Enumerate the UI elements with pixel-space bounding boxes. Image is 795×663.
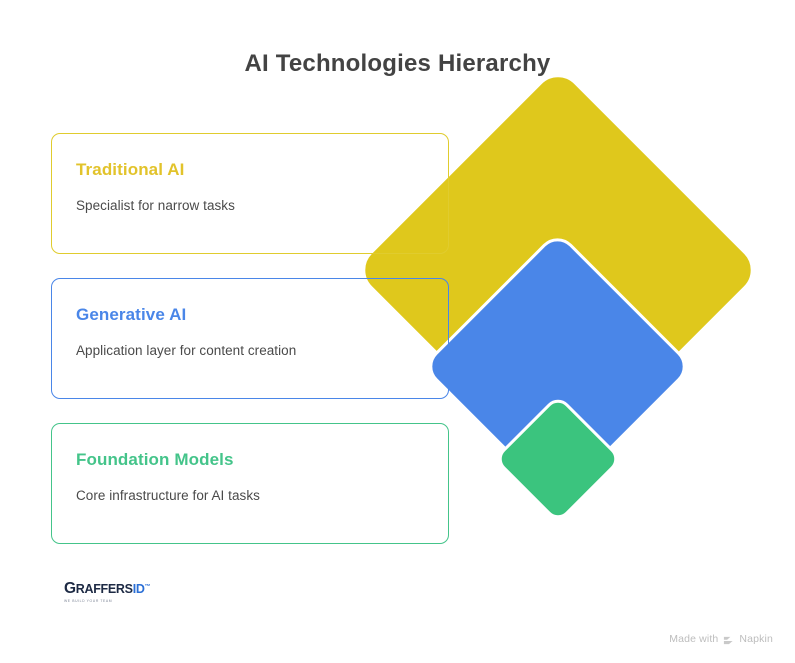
card-description-foundation-models: Core infrastructure for AI tasks [76,488,448,503]
brand-logo-rest: RAFFERS [76,583,133,596]
brand-logo-wordmark: GRAFFERSID™ [64,581,142,597]
card-generative-ai[interactable]: Generative AI Application layer for cont… [51,278,449,399]
diagram-canvas: AI Technologies Hierarchy Traditional AI… [0,0,795,663]
card-heading-traditional-ai: Traditional AI [76,160,448,180]
brand-logo-g: G [64,581,76,597]
card-description-traditional-ai: Specialist for narrow tasks [76,198,448,213]
middle-diamond-shape [421,230,694,503]
card-heading-foundation-models: Foundation Models [76,450,448,470]
brand-logo: GRAFFERSID™ WE BUILD YOUR TEAM [64,579,142,605]
outer-diamond-shape [352,64,765,477]
card-traditional-ai[interactable]: Traditional AI Specialist for narrow tas… [51,133,449,254]
page-title: AI Technologies Hierarchy [0,50,795,78]
footer-made-with-label: Made with [669,633,718,645]
inner-diamond-shape [493,394,623,524]
brand-logo-tagline: WE BUILD YOUR TEAM [64,599,142,603]
card-description-generative-ai: Application layer for content creation [76,343,448,358]
napkin-logo-icon [723,635,734,646]
brand-logo-trademark-icon: ™ [145,584,151,590]
footer-product-name: Napkin [739,633,773,645]
card-foundation-models[interactable]: Foundation Models Core infrastructure fo… [51,423,449,544]
footer-attribution[interactable]: Made with Napkin [669,633,773,645]
brand-logo-id: ID [133,583,145,596]
card-heading-generative-ai: Generative AI [76,305,448,325]
